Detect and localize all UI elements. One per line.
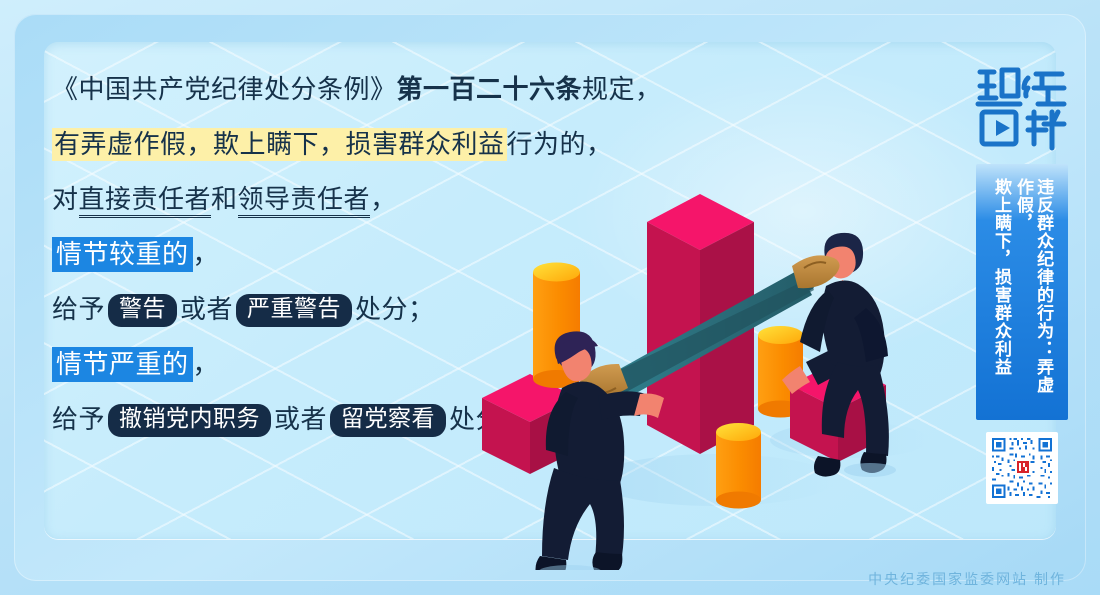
vertical-text-right: 违反群众纪律的行为：弄虚作假， [1013, 178, 1053, 410]
producer-credit: 中央纪委国家监委网站 制作 [868, 569, 1066, 589]
qr-code[interactable] [986, 432, 1058, 504]
line1-tail: 规定， [582, 75, 662, 104]
jifa-baike-logo [972, 56, 1072, 156]
underline-leadership-responsible: 领导责任者 [238, 185, 371, 218]
qr-center-seal [1017, 461, 1029, 473]
line3-lead: 对 [52, 185, 79, 214]
line5-lead: 给予 [52, 295, 105, 324]
line3-tail: ， [370, 185, 397, 214]
brand-sidebar: 违反群众纪律的行为：弄虚作假， 欺上瞒下，损害群众利益 [966, 34, 1078, 544]
line6-tail: ， [193, 350, 220, 379]
highlight-blue-severe: 情节严重的 [52, 347, 193, 382]
highlight-yellow-conduct: 有弄虚作假，欺上瞒下，损害群众利益 [52, 128, 507, 161]
article-number: 第一百二十六条 [397, 75, 583, 104]
text-line-1: 《中国共产党纪律处分条例》第一百二十六条规定， [52, 62, 652, 117]
penalty-pill-removal-from-post: 撤销党内职务 [108, 404, 271, 437]
text-line-2: 有弄虚作假，欺上瞒下，损害群众利益行为的， [52, 117, 652, 172]
line2-tail: 行为的， [507, 130, 613, 159]
penalty-pill-probation: 留党察看 [330, 404, 446, 437]
line3-mid: 和 [211, 185, 238, 214]
line4-tail: ， [193, 240, 220, 269]
vertical-text-left: 欺上瞒下，损害群众利益 [991, 178, 1011, 410]
underline-direct-responsible: 直接责任者 [79, 185, 212, 218]
penalty-pill-serious-warning: 严重警告 [236, 294, 352, 327]
infographic-canvas: 《中国共产党纪律处分条例》第一百二十六条规定， 有弄虚作假，欺上瞒下，损害群众利… [0, 0, 1100, 595]
penalty-pill-warning: 警告 [108, 294, 177, 327]
line7-mid: 或者 [274, 405, 327, 434]
line7-lead: 给予 [52, 405, 105, 434]
vertical-banner: 违反群众纪律的行为：弄虚作假， 欺上瞒下，损害群众利益 [976, 164, 1068, 420]
regulation-title: 《中国共产党纪律处分条例》 [52, 75, 397, 104]
line5-mid: 或者 [180, 295, 233, 324]
cylinder-front [716, 423, 761, 509]
highlight-blue-moderate: 情节较重的 [52, 237, 193, 272]
play-button-icon [996, 120, 1010, 136]
illustration-sawing-bar-chart [470, 180, 990, 570]
line5-tail: 处分； [355, 295, 435, 324]
